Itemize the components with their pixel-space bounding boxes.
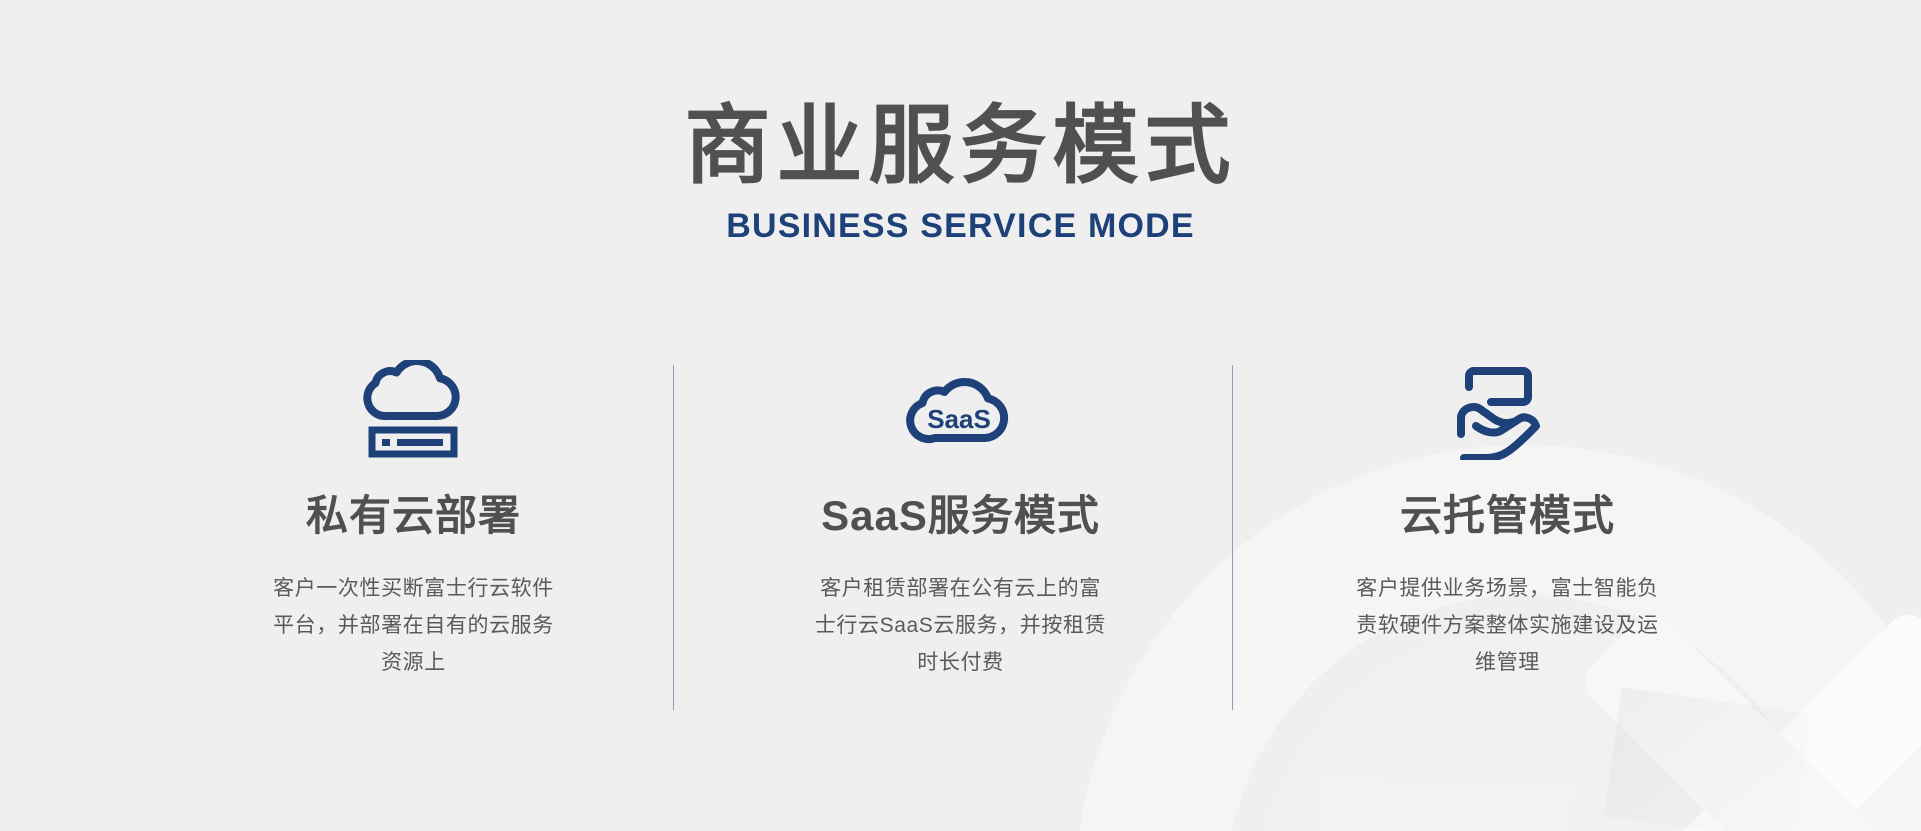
hand-hosting-icon [1274,355,1741,465]
service-card-private-cloud[interactable]: 私有云部署 客户一次性买断富士行云软件平台，并部署在自有的云服务资源上 [140,355,687,681]
cloud-saas-icon: SaaS [727,355,1194,465]
service-mode-columns: 私有云部署 客户一次性买断富士行云软件平台，并部署在自有的云服务资源上 SaaS… [140,355,1781,681]
cloud-server-icon [180,355,647,465]
service-card-description: 客户租赁部署在公有云上的富士行云SaaS云服务，并按租赁时长付费 [810,570,1110,681]
service-card-title: SaaS服务模式 [727,490,1194,542]
background-fade-shape [1320,780,1620,831]
section-header: 商业服务模式 BUSINESS SERVICE MODE [0,98,1921,246]
saas-icon-label: SaaS [928,404,992,434]
service-card-title: 云托管模式 [1274,490,1741,542]
service-card-title: 私有云部署 [180,490,647,542]
service-card-saas[interactable]: SaaS SaaS服务模式 客户租赁部署在公有云上的富士行云SaaS云服务，并按… [687,355,1234,681]
page-title: 商业服务模式 [0,98,1921,194]
business-service-mode-section: 商业服务模式 BUSINESS SERVICE MODE 私有云部署 客户一次性… [0,0,1921,831]
service-card-description: 客户提供业务场景，富士智能负责软硬件方案整体实施建设及运维管理 [1347,570,1667,681]
service-card-description: 客户一次性买断富士行云软件平台，并部署在自有的云服务资源上 [263,570,563,681]
service-card-cloud-hosting[interactable]: 云托管模式 客户提供业务场景，富士智能负责软硬件方案整体实施建设及运维管理 [1234,355,1781,681]
page-subtitle: BUSINESS SERVICE MODE [0,206,1921,246]
background-shadow-wedge [1604,687,1810,831]
